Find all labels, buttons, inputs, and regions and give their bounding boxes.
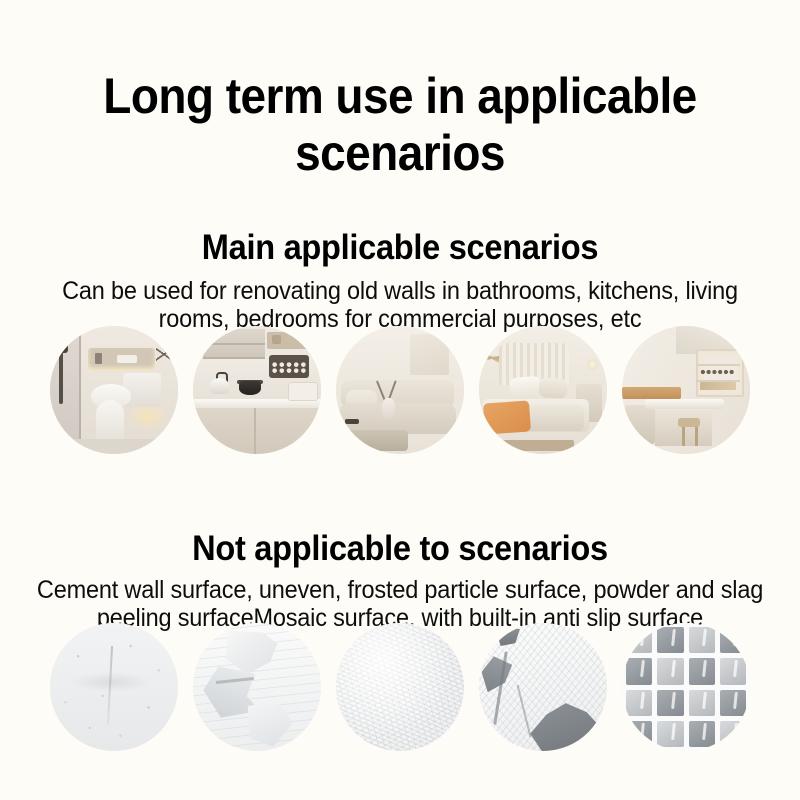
- bedroom-scene-image: [479, 326, 607, 454]
- thumbnail-living-room: [336, 326, 464, 454]
- mosaic-tile: [720, 721, 746, 747]
- mosaic-tile: [626, 721, 652, 747]
- thumbnail-commercial: [622, 326, 750, 454]
- frosted-particle-surface-image: [336, 623, 464, 751]
- mosaic-tile: [657, 721, 683, 747]
- thumbnail-bedroom: [479, 326, 607, 454]
- mosaic-tile: [689, 658, 715, 684]
- applicable-thumbnail-row: [50, 325, 750, 455]
- mosaic-tile: [689, 690, 715, 716]
- not-applicable-thumbnail-row: [50, 622, 750, 752]
- mosaic-tile: [689, 721, 715, 747]
- mosaic-tile: [720, 658, 746, 684]
- kitchen-scene-image: [193, 326, 321, 454]
- cement-wall-surface-image: [50, 623, 178, 751]
- page-title: Long term use in applicable scenarios: [32, 68, 768, 182]
- powder-slag-peeling-surface-image: [479, 623, 607, 751]
- thumbnail-cement-wall: [50, 623, 178, 751]
- section-heading-not-applicable: Not applicable to scenarios: [28, 529, 772, 569]
- mosaic-tile-grid: [622, 623, 750, 751]
- commercial-scene-image: [622, 326, 750, 454]
- mosaic-tile: [657, 627, 683, 653]
- thumbnail-uneven-surface: [193, 623, 321, 751]
- mosaic-tile: [657, 658, 683, 684]
- living-room-scene-image: [336, 326, 464, 454]
- mosaic-tile: [626, 627, 652, 653]
- thumbnail-frosted-particle: [336, 623, 464, 751]
- mosaic-tile: [626, 690, 652, 716]
- section-heading-applicable: Main applicable scenarios: [28, 228, 772, 268]
- mosaic-tile: [657, 690, 683, 716]
- mosaic-tile: [689, 627, 715, 653]
- thumbnail-bathroom: [50, 326, 178, 454]
- mosaic-surface-image: [622, 623, 750, 751]
- infographic-page: Long term use in applicable scenarios Ma…: [0, 0, 800, 800]
- thumbnail-mosaic-surface: [622, 623, 750, 751]
- mosaic-tile: [720, 690, 746, 716]
- thumbnail-kitchen: [193, 326, 321, 454]
- bathroom-scene-image: [50, 326, 178, 454]
- uneven-surface-image: [193, 623, 321, 751]
- mosaic-tile: [720, 627, 746, 653]
- mosaic-tile: [626, 658, 652, 684]
- thumbnail-powder-slag-peeling: [479, 623, 607, 751]
